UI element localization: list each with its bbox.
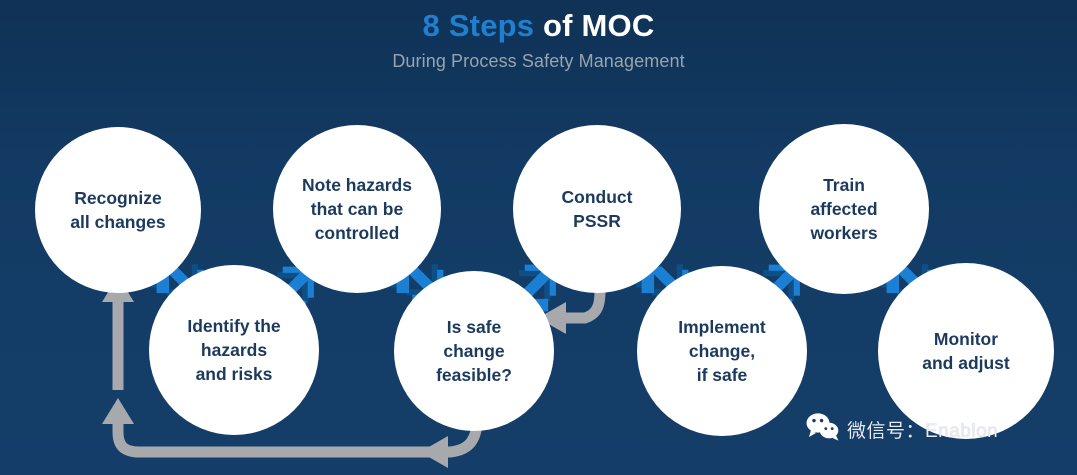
step-node-5-label: Conduct PSSR bbox=[554, 185, 641, 233]
step-node-6-label: Implement change, if safe bbox=[670, 315, 774, 387]
step-node-8-label: Monitor and adjust bbox=[914, 327, 1018, 375]
watermark-text: 微信号：Enablon bbox=[847, 416, 998, 443]
page-title: 8 Steps of MOC bbox=[0, 8, 1077, 44]
step-node-3-label: Note hazards that can be controlled bbox=[294, 173, 420, 245]
page-subtitle: During Process Safety Management bbox=[0, 51, 1077, 72]
step-node-5[interactable]: Conduct PSSR bbox=[513, 125, 681, 293]
step-node-7-label: Train affected workers bbox=[802, 173, 885, 245]
page-title-accent: 8 Steps bbox=[423, 8, 535, 43]
step-node-3[interactable]: Note hazards that can be controlled bbox=[273, 125, 441, 293]
step-node-7[interactable]: Train affected workers bbox=[759, 124, 929, 294]
step-node-4-label: Is safe change feasible? bbox=[428, 315, 520, 387]
step-node-4[interactable]: Is safe change feasible? bbox=[394, 271, 554, 431]
step-node-2-label: Identify the hazards and risks bbox=[179, 314, 288, 386]
wechat-icon bbox=[806, 412, 840, 446]
diagram-canvas: 8 Steps of MOC During Process Safety Man… bbox=[0, 0, 1077, 475]
step-node-2[interactable]: Identify the hazards and risks bbox=[149, 265, 319, 435]
feedback-arrow-2-to-1 bbox=[102, 276, 134, 390]
page-title-plain: of MOC bbox=[534, 8, 654, 43]
step-node-1[interactable]: Recognize all changes bbox=[35, 127, 201, 293]
step-node-6[interactable]: Implement change, if safe bbox=[637, 266, 807, 436]
step-node-1-label: Recognize all changes bbox=[62, 186, 173, 234]
watermark: 微信号：Enablon bbox=[806, 412, 998, 446]
diagram-header: 8 Steps of MOC During Process Safety Man… bbox=[0, 8, 1077, 72]
